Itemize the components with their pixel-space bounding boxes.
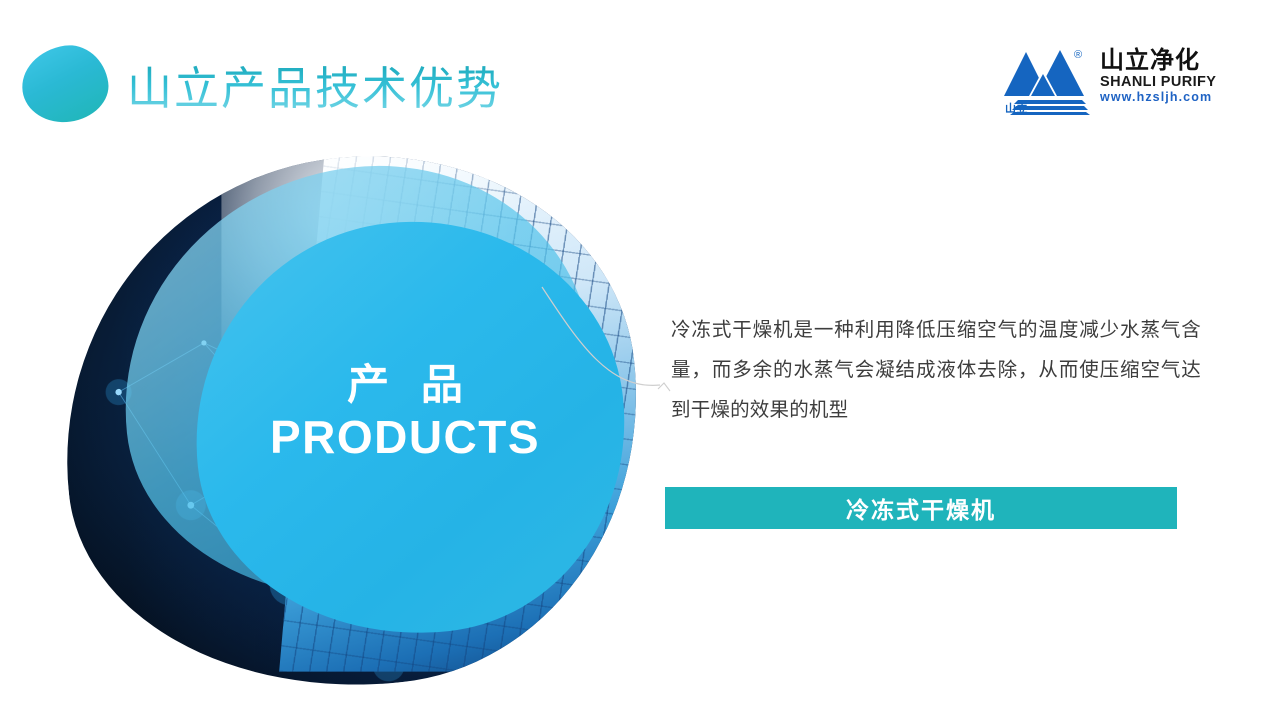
logo-mark-label: 山立 [1005, 100, 1028, 116]
mountain-logo-icon: ® 山立 [1004, 44, 1096, 116]
logo-company-en: SHANLI PURIFY [1100, 74, 1224, 90]
products-label: 产 品 PRODUCTS [205, 360, 605, 464]
products-graphic: 产 品 PRODUCTS [55, 150, 675, 695]
slide-canvas: 山立产品技术优势 ® 山立 山立净化 SHANLI PURIFY www.hzs… [0, 0, 1280, 720]
decorative-blob-icon [17, 40, 113, 127]
product-name-label: 冷冻式干燥机 [846, 491, 996, 525]
page-title: 山立产品技术优势 [127, 60, 503, 118]
products-label-en: PRODUCTS [205, 410, 605, 464]
products-label-cn: 产 品 [205, 360, 605, 410]
logo-website: www.hzsljh.com [1100, 90, 1224, 105]
product-description: 冷冻式干燥机是一种利用降低压缩空气的温度减少水蒸气含量，而多余的水蒸气会凝结成液… [671, 310, 1201, 430]
product-name-banner: 冷冻式干燥机 [665, 487, 1177, 529]
logo-company-cn: 山立净化 [1100, 48, 1224, 74]
logo-text-block: 山立净化 SHANLI PURIFY www.hzsljh.com [1100, 48, 1224, 105]
company-logo: ® 山立 山立净化 SHANLI PURIFY www.hzsljh.com [1004, 44, 1222, 118]
svg-text:®: ® [1074, 49, 1082, 61]
